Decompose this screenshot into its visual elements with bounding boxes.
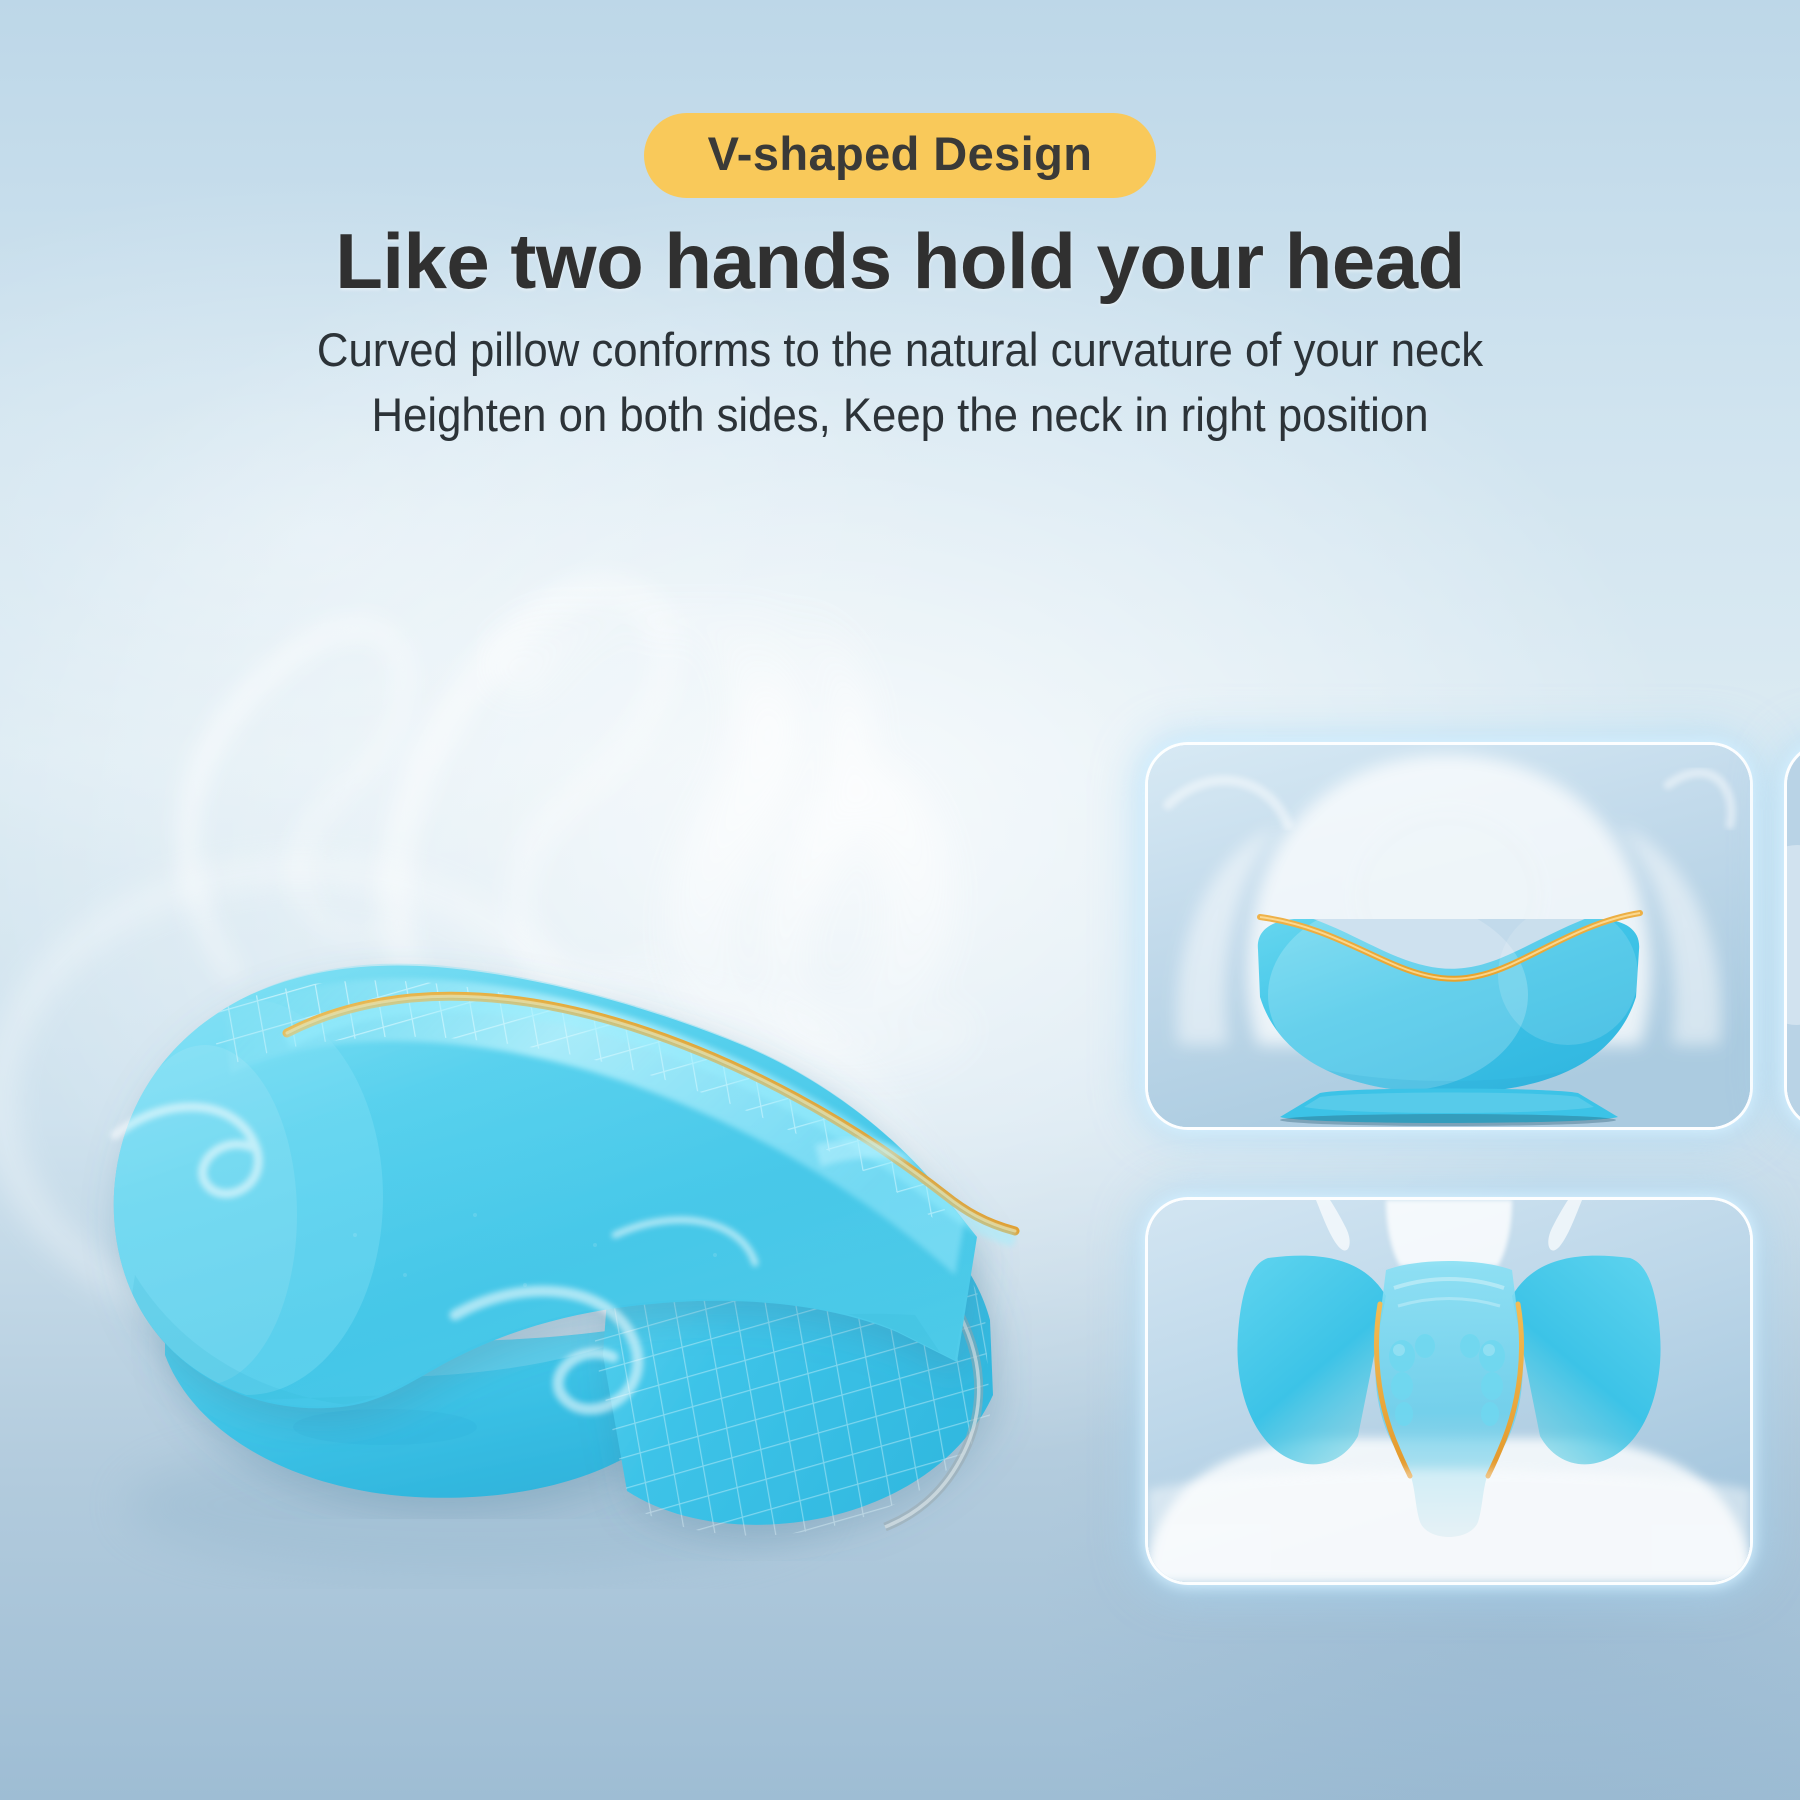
v-shaped-design-badge: V-shaped Design [644,113,1157,198]
cradle-base [1280,1089,1618,1127]
partial-panel[interactable] [1787,745,1800,1127]
fog-overlay [1148,1469,1750,1582]
subtitle-line-2: Heighten on both sides, Keep the neck in… [63,384,1737,447]
page-title: Like two hands hold your head [0,220,1800,303]
hero-pillow-illustration [55,715,1065,1615]
overhead-view-illustration [1148,1200,1750,1582]
header-block: V-shaped Design Like two hands hold your… [0,0,1800,447]
front-view-illustration [1148,745,1750,1127]
subtitle-line-1: Curved pillow conforms to the natural cu… [63,319,1737,382]
partial-panel-content [1787,745,1800,1127]
hero-product-stage [0,500,1100,1800]
front-view-panel[interactable] [1148,745,1750,1127]
overhead-view-panel[interactable] [1148,1200,1750,1582]
